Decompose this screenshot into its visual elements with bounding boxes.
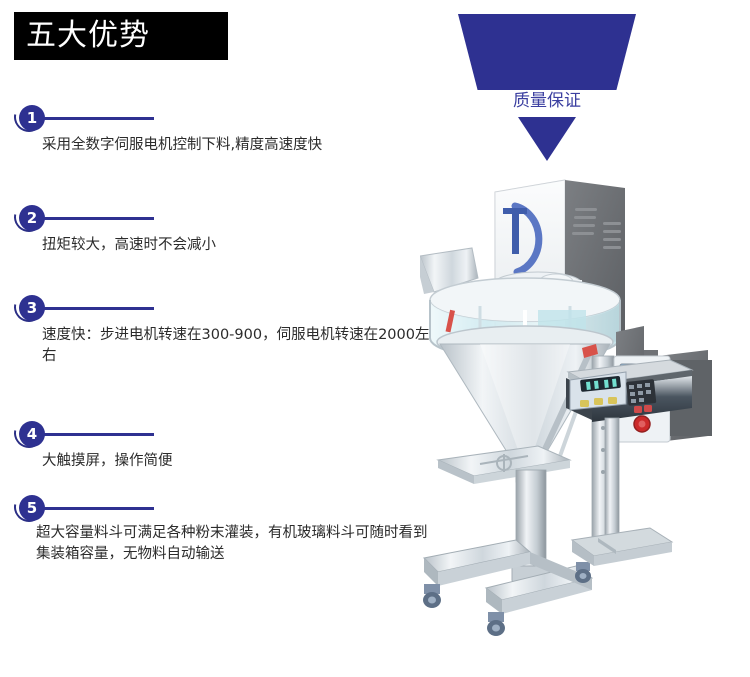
number-badge-1: 1 [19, 105, 45, 131]
advantage-text-5: 超大容量料斗可满足各种粉末灌装，有机玻璃料斗可随时看到集装箱容量，无物料自动输送 [36, 523, 436, 565]
badge-number-2: 2 [19, 205, 45, 231]
badge-number-1: 1 [19, 105, 45, 131]
advantage-text-2: 扭矩较大，高速时不会减小 [42, 235, 432, 256]
advantage-item-3: 3 速度快：步进电机转速在300-900，伺服电机转速在2000左右 [0, 295, 440, 325]
caster-wheel [487, 612, 505, 636]
product-platform [438, 446, 570, 484]
number-badge-4: 4 [19, 421, 45, 447]
advantage-item-4: 4 大触摸屏，操作简便 [0, 421, 440, 451]
quality-assurance-label: 质量保证 [440, 90, 654, 112]
advantage-item-1: 1 采用全数字伺服电机控制下料,精度高速度快 [0, 105, 440, 135]
advantage-text-1: 采用全数字伺服电机控制下料,精度高速度快 [42, 135, 432, 156]
badge-number-3: 3 [19, 295, 45, 321]
badge-number-4: 4 [19, 421, 45, 447]
advantage-header-3: 3 [0, 295, 440, 325]
quality-assurance-graphic: 质量保证 [440, 0, 660, 170]
caster-wheel [423, 584, 441, 608]
number-badge-5: 5 [19, 495, 45, 521]
badge-number-5: 5 [19, 495, 45, 521]
base-frame [423, 540, 592, 636]
funnel-trapezoid-shape [458, 14, 636, 90]
advantage-rule-1 [44, 117, 154, 120]
advantage-rule-2 [44, 217, 154, 220]
advantage-header-1: 1 [0, 105, 440, 135]
machine-illustration [420, 160, 750, 640]
advantage-list: 1 采用全数字伺服电机控制下料,精度高速度快 2 扭矩较大，高速时不会减小 3 … [0, 0, 440, 677]
advantage-text-4: 大触摸屏，操作简便 [42, 451, 432, 472]
number-badge-3: 3 [19, 295, 45, 321]
number-badge-2: 2 [19, 205, 45, 231]
advantage-rule-5 [44, 507, 154, 510]
advantage-rule-3 [44, 307, 154, 310]
advantage-text-3: 速度快：步进电机转速在300-900，伺服电机转速在2000左右 [42, 325, 434, 367]
advantage-header-4: 4 [0, 421, 440, 451]
digital-scale [566, 360, 692, 566]
advantage-header-2: 2 [0, 205, 440, 235]
advantage-item-5: 5 超大容量料斗可满足各种粉末灌装，有机玻璃料斗可随时看到集装箱容量，无物料自动… [0, 495, 440, 525]
scale-keypad[interactable] [626, 379, 656, 406]
down-arrow-icon [518, 117, 576, 161]
advantage-rule-4 [44, 433, 154, 436]
machine-product-image [420, 160, 750, 640]
caster-wheel [575, 562, 591, 583]
advantage-header-5: 5 [0, 495, 440, 525]
advantage-item-2: 2 扭矩较大，高速时不会减小 [0, 205, 440, 235]
